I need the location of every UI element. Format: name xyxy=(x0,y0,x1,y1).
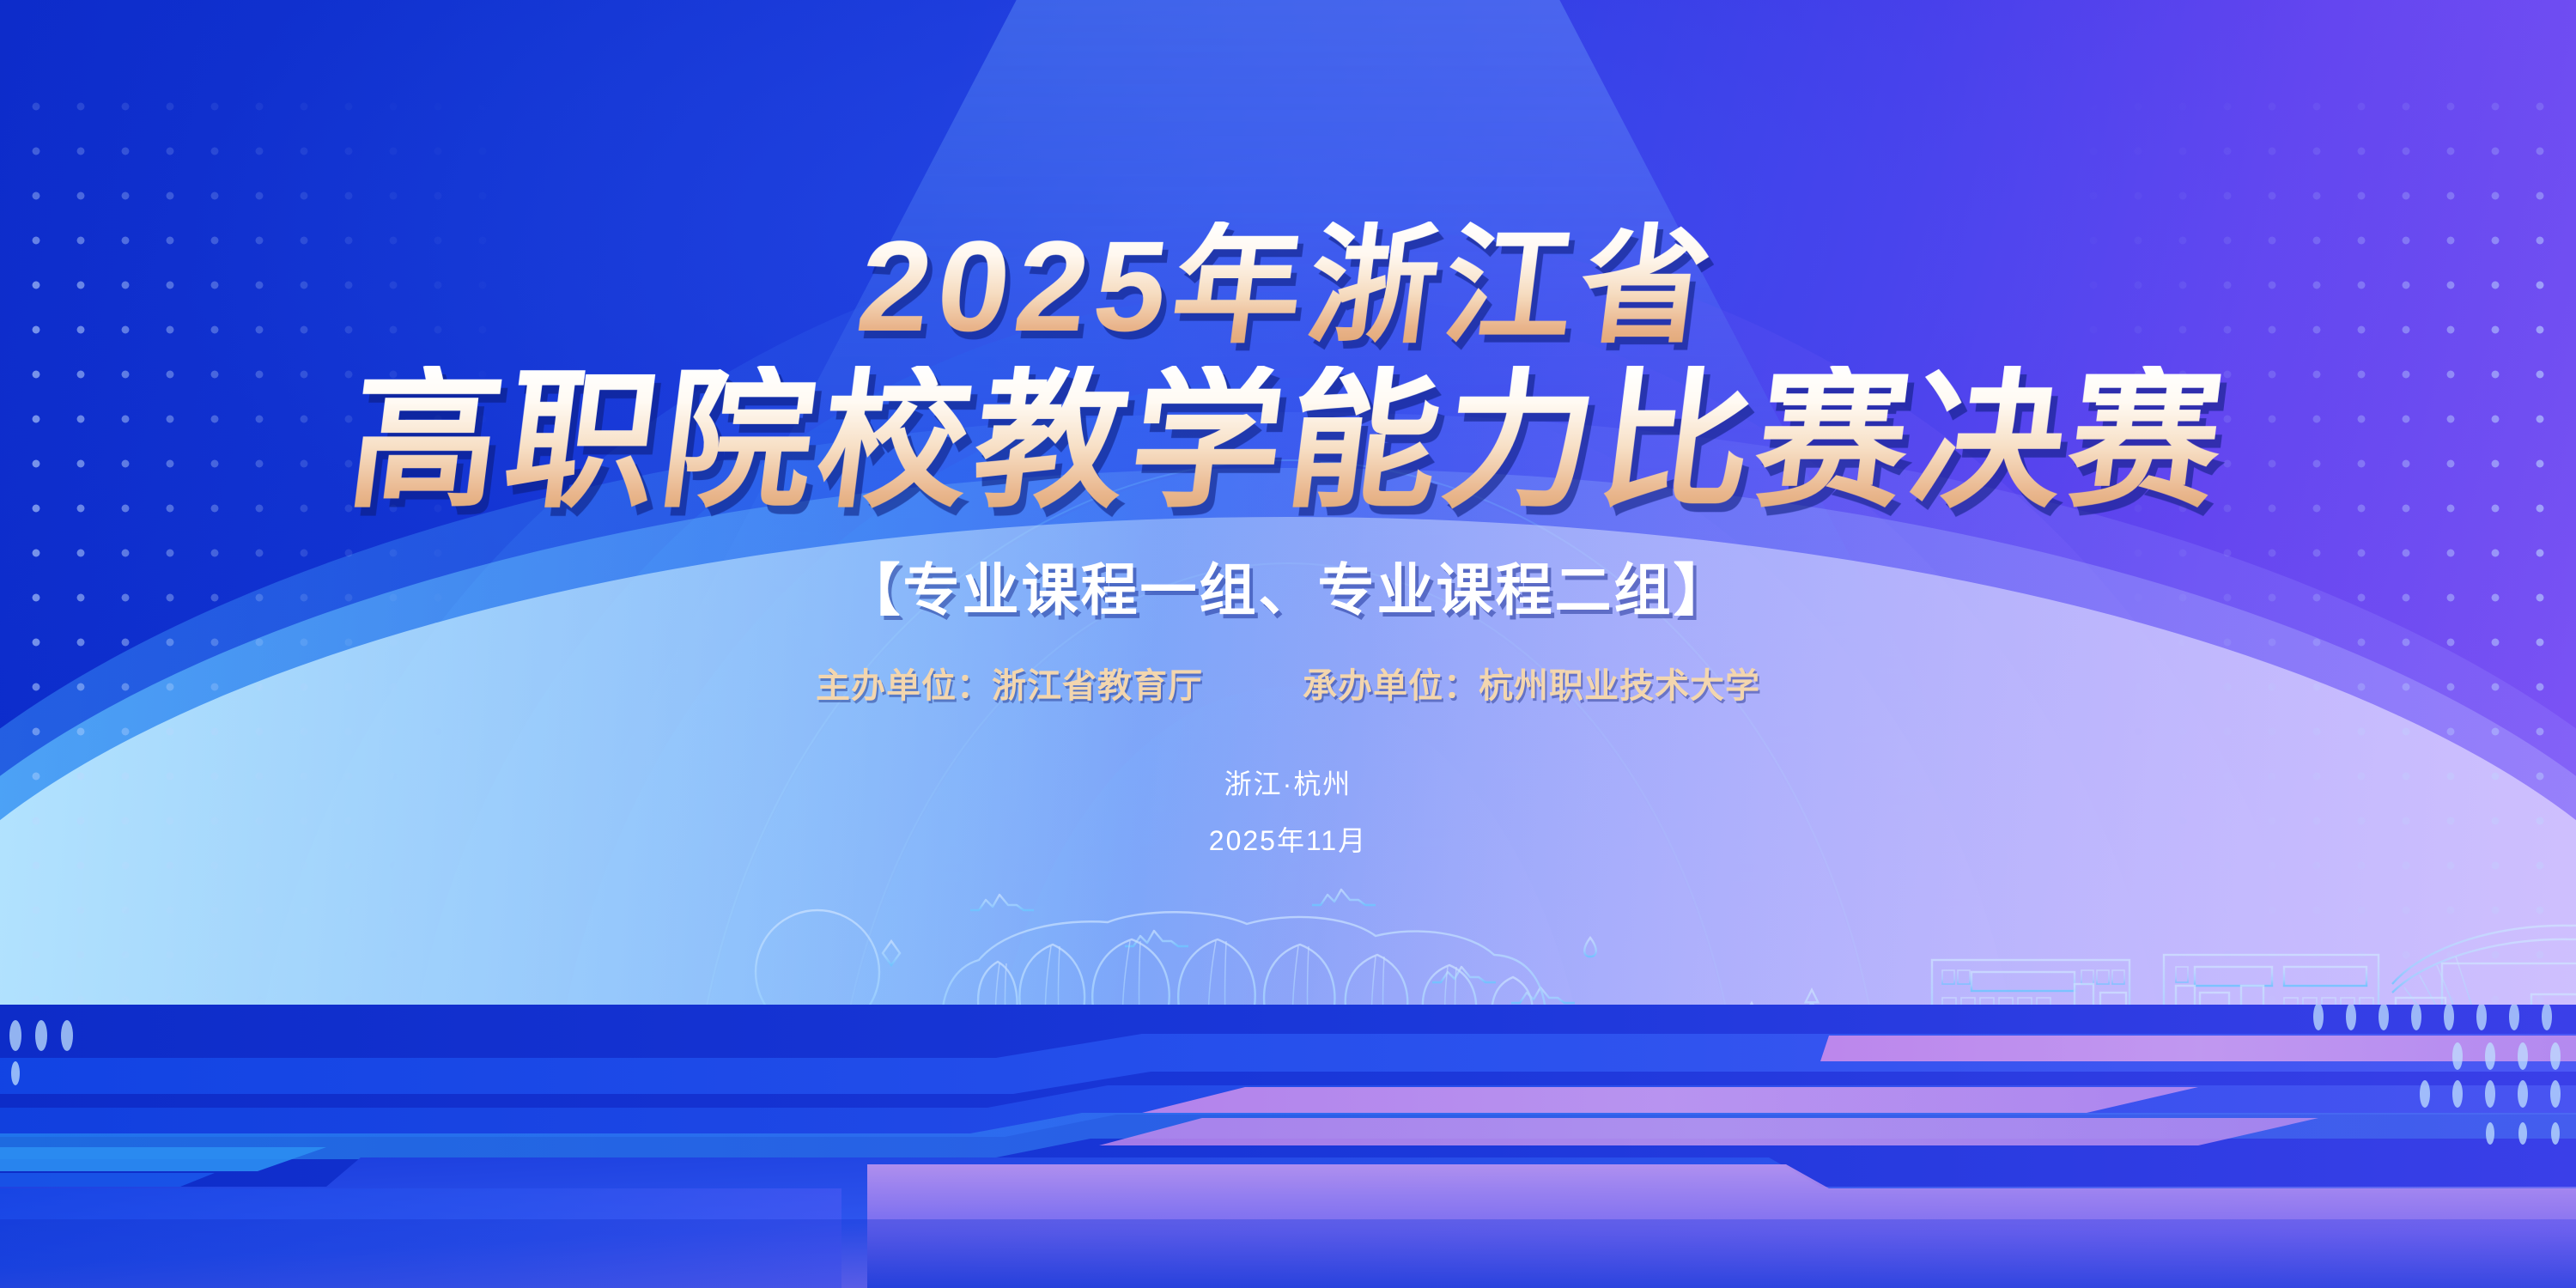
title-line-1: 2025年浙江省 xyxy=(852,222,1724,350)
event-banner: 2025年浙江省 高职院校教学能力比赛决赛 【专业课程一组、专业课程二组】 主办… xyxy=(0,0,2576,1288)
banner-content: 2025年浙江省 高职院校教学能力比赛决赛 【专业课程一组、专业课程二组】 主办… xyxy=(0,0,2576,1288)
organizer-coorganizer: 承办单位：杭州职业技术大学 xyxy=(1303,658,1760,708)
organizer-host: 主办单位：浙江省教育厅 xyxy=(816,658,1203,708)
event-date: 2025年11月 xyxy=(1209,819,1367,859)
organizer-row: 主办单位：浙江省教育厅 承办单位：杭州职业技术大学 xyxy=(816,658,1760,708)
subtitle-groups: 【专业课程一组、专业课程二组】 xyxy=(844,562,1733,618)
title-line-2: 高职院校教学能力比赛决赛 xyxy=(341,366,2235,517)
event-location: 浙江·杭州 xyxy=(1224,762,1352,802)
